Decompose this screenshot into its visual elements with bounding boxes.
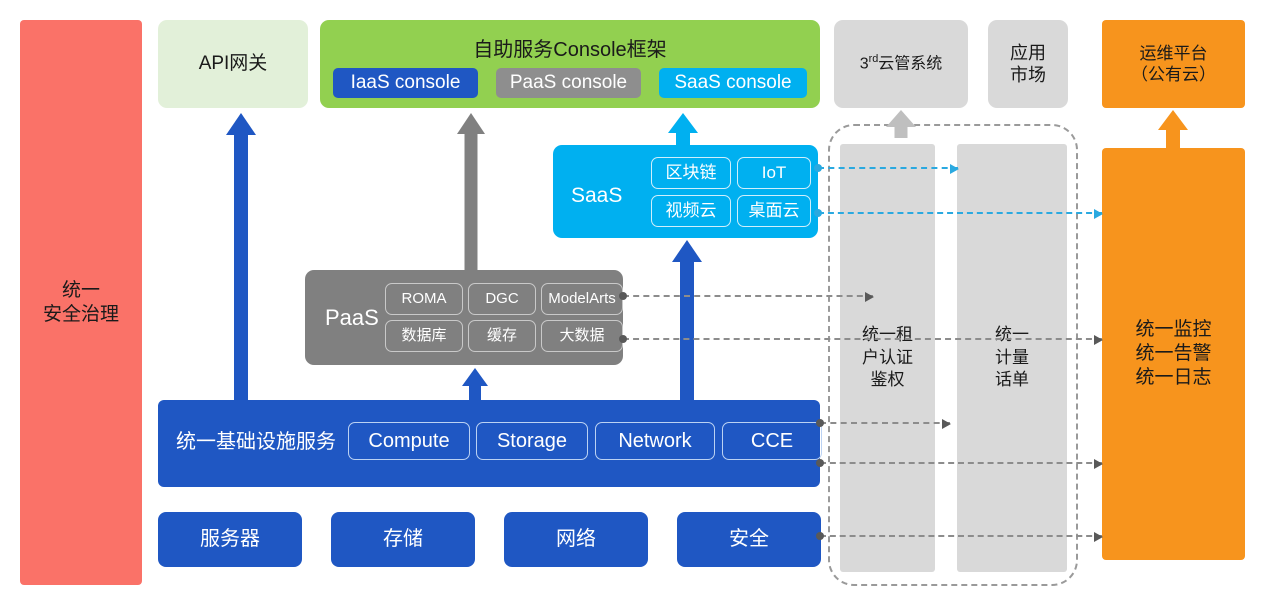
self-service-console-frame: 自助服务Console框架 IaaS console PaaS console … bbox=[320, 20, 820, 108]
security-line-1: 统一 bbox=[43, 279, 119, 303]
ops-platform-line-1: 运维平台 bbox=[1131, 43, 1216, 64]
paas-console-chip[interactable]: PaaS console bbox=[496, 68, 641, 98]
ops-platform-line-2: （公有云） bbox=[1131, 64, 1216, 85]
grey-dashed-infra-to-auth bbox=[820, 422, 950, 424]
infra-pill-cce[interactable]: CCE bbox=[722, 422, 822, 460]
console-frame-title: 自助服务Console框架 bbox=[320, 38, 820, 63]
pillar-1-line-1: 统一租 bbox=[862, 324, 913, 347]
third-party-superscript: rd bbox=[869, 53, 879, 65]
api-gateway-label: API网关 bbox=[199, 52, 268, 76]
pillar-2-line-3: 话单 bbox=[995, 369, 1029, 392]
infrastructure-label: 统一基础设施服务 bbox=[176, 430, 336, 455]
saas-pill-video-cloud-label: 视频云 bbox=[666, 200, 717, 221]
paas-pill-modelarts[interactable]: ModelArts bbox=[541, 283, 623, 315]
resource-network-label: 网络 bbox=[556, 527, 596, 552]
infra-pill-network[interactable]: Network bbox=[595, 422, 715, 460]
ops-tall-line-3: 统一日志 bbox=[1135, 366, 1211, 390]
paas-pill-bigdata-label: 大数据 bbox=[559, 327, 604, 346]
grey-dashed-paas-to-auth bbox=[623, 295, 873, 297]
infra-pill-storage[interactable]: Storage bbox=[476, 422, 588, 460]
iaas-console-chip[interactable]: IaaS console bbox=[333, 68, 478, 98]
paas-pill-dgc[interactable]: DGC bbox=[468, 283, 536, 315]
light-blue-up-arrow-to-saas-console bbox=[668, 113, 698, 147]
saas-pill-desktop-cloud[interactable]: 桌面云 bbox=[737, 195, 811, 227]
saas-pill-iot-label: IoT bbox=[762, 162, 787, 183]
architecture-diagram: 统一 安全治理 API网关 自助服务Console框架 IaaS console… bbox=[0, 0, 1265, 605]
resource-storage-label: 存储 bbox=[383, 527, 423, 552]
saas-pill-blockchain-label: 区块链 bbox=[666, 162, 717, 183]
grey-dashed-infra-to-ops bbox=[820, 462, 1102, 464]
app-market-line-2: 市场 bbox=[1010, 64, 1046, 87]
infra-pill-compute-label: Compute bbox=[368, 429, 449, 454]
ops-tall-line-1: 统一监控 bbox=[1135, 318, 1211, 342]
unified-security-governance-column: 统一 安全治理 bbox=[20, 20, 142, 585]
ops-tall-line-2: 统一告警 bbox=[1135, 342, 1211, 366]
blue-dashed-saas-to-metering bbox=[818, 167, 958, 169]
saas-pill-desktop-cloud-label: 桌面云 bbox=[749, 200, 800, 221]
app-market-line-1: 应用 bbox=[1010, 42, 1046, 65]
paas-pill-modelarts-label: ModelArts bbox=[548, 290, 616, 309]
grey-dashed-resources-to-ops bbox=[820, 535, 1102, 537]
pillar-2-line-1: 统一 bbox=[995, 324, 1029, 347]
unified-tenant-auth-pillar: 统一租 户认证 鉴权 bbox=[840, 144, 935, 572]
blue-up-arrow-to-paas bbox=[461, 368, 489, 402]
resource-security-label: 安全 bbox=[729, 527, 769, 552]
pillar-1-line-3: 鉴权 bbox=[862, 369, 913, 392]
blue-dashed-saas-to-ops bbox=[818, 212, 1102, 214]
saas-pill-blockchain[interactable]: 区块链 bbox=[651, 157, 731, 189]
app-market-box[interactable]: 应用 市场 bbox=[988, 20, 1068, 108]
security-line-2: 安全治理 bbox=[43, 303, 119, 327]
paas-pill-database-label: 数据库 bbox=[401, 327, 446, 346]
grey-up-arrow-to-console bbox=[456, 113, 486, 271]
blue-up-arrow-to-saas bbox=[672, 240, 702, 402]
paas-pill-dgc-label: DGC bbox=[485, 290, 518, 309]
infra-pill-compute[interactable]: Compute bbox=[348, 422, 470, 460]
paas-pill-cache[interactable]: 缓存 bbox=[468, 320, 536, 352]
orange-up-arrow-to-ops-platform bbox=[1158, 110, 1188, 148]
unified-metering-billing-pillar: 统一 计量 话单 bbox=[957, 144, 1067, 572]
infra-pill-storage-label: Storage bbox=[497, 429, 567, 454]
resource-server-label: 服务器 bbox=[200, 527, 260, 552]
third-party-prefix: 3 bbox=[860, 56, 869, 73]
grey-dashed-paas-to-ops bbox=[623, 338, 1102, 340]
unified-infrastructure-block: 统一基础设施服务 Compute Storage Network CCE bbox=[158, 400, 820, 487]
pillar-2-line-2: 计量 bbox=[995, 347, 1029, 370]
paas-pill-database[interactable]: 数据库 bbox=[385, 320, 463, 352]
saas-console-label: SaaS console bbox=[674, 71, 791, 95]
paas-label: PaaS bbox=[325, 304, 379, 332]
third-party-cloud-mgmt-box[interactable]: 3rd云管系统 bbox=[834, 20, 968, 108]
paas-pill-cache-label: 缓存 bbox=[487, 327, 517, 346]
ops-platform-box[interactable]: 运维平台 （公有云） bbox=[1102, 20, 1245, 108]
resource-box-network[interactable]: 网络 bbox=[504, 512, 648, 567]
resource-box-storage[interactable]: 存储 bbox=[331, 512, 475, 567]
third-party-label: 3rd云管系统 bbox=[860, 53, 943, 74]
blue-up-arrow-to-api-gateway bbox=[226, 113, 256, 403]
third-party-suffix: 云管系统 bbox=[878, 56, 942, 73]
paas-pill-roma[interactable]: ROMA bbox=[385, 283, 463, 315]
grey-up-arrow-to-third-party bbox=[886, 110, 916, 138]
saas-block: SaaS 区块链 IoT 视频云 桌面云 bbox=[553, 145, 818, 238]
saas-console-chip[interactable]: SaaS console bbox=[659, 68, 807, 98]
saas-label: SaaS bbox=[571, 183, 622, 209]
resource-box-security[interactable]: 安全 bbox=[677, 512, 821, 567]
api-gateway-box[interactable]: API网关 bbox=[158, 20, 308, 108]
resource-box-server[interactable]: 服务器 bbox=[158, 512, 302, 567]
paas-pill-bigdata[interactable]: 大数据 bbox=[541, 320, 623, 352]
pillar-1-line-2: 户认证 bbox=[862, 347, 913, 370]
paas-console-label: PaaS console bbox=[510, 71, 627, 95]
infra-pill-network-label: Network bbox=[618, 429, 691, 454]
saas-pill-iot[interactable]: IoT bbox=[737, 157, 811, 189]
paas-pill-roma-label: ROMA bbox=[402, 290, 447, 309]
paas-block: PaaS ROMA DGC ModelArts 数据库 缓存 大数据 bbox=[305, 270, 623, 365]
iaas-console-label: IaaS console bbox=[351, 71, 461, 95]
saas-pill-video-cloud[interactable]: 视频云 bbox=[651, 195, 731, 227]
unified-monitoring-column: 统一监控 统一告警 统一日志 bbox=[1102, 148, 1245, 560]
infra-pill-cce-label: CCE bbox=[751, 429, 793, 454]
